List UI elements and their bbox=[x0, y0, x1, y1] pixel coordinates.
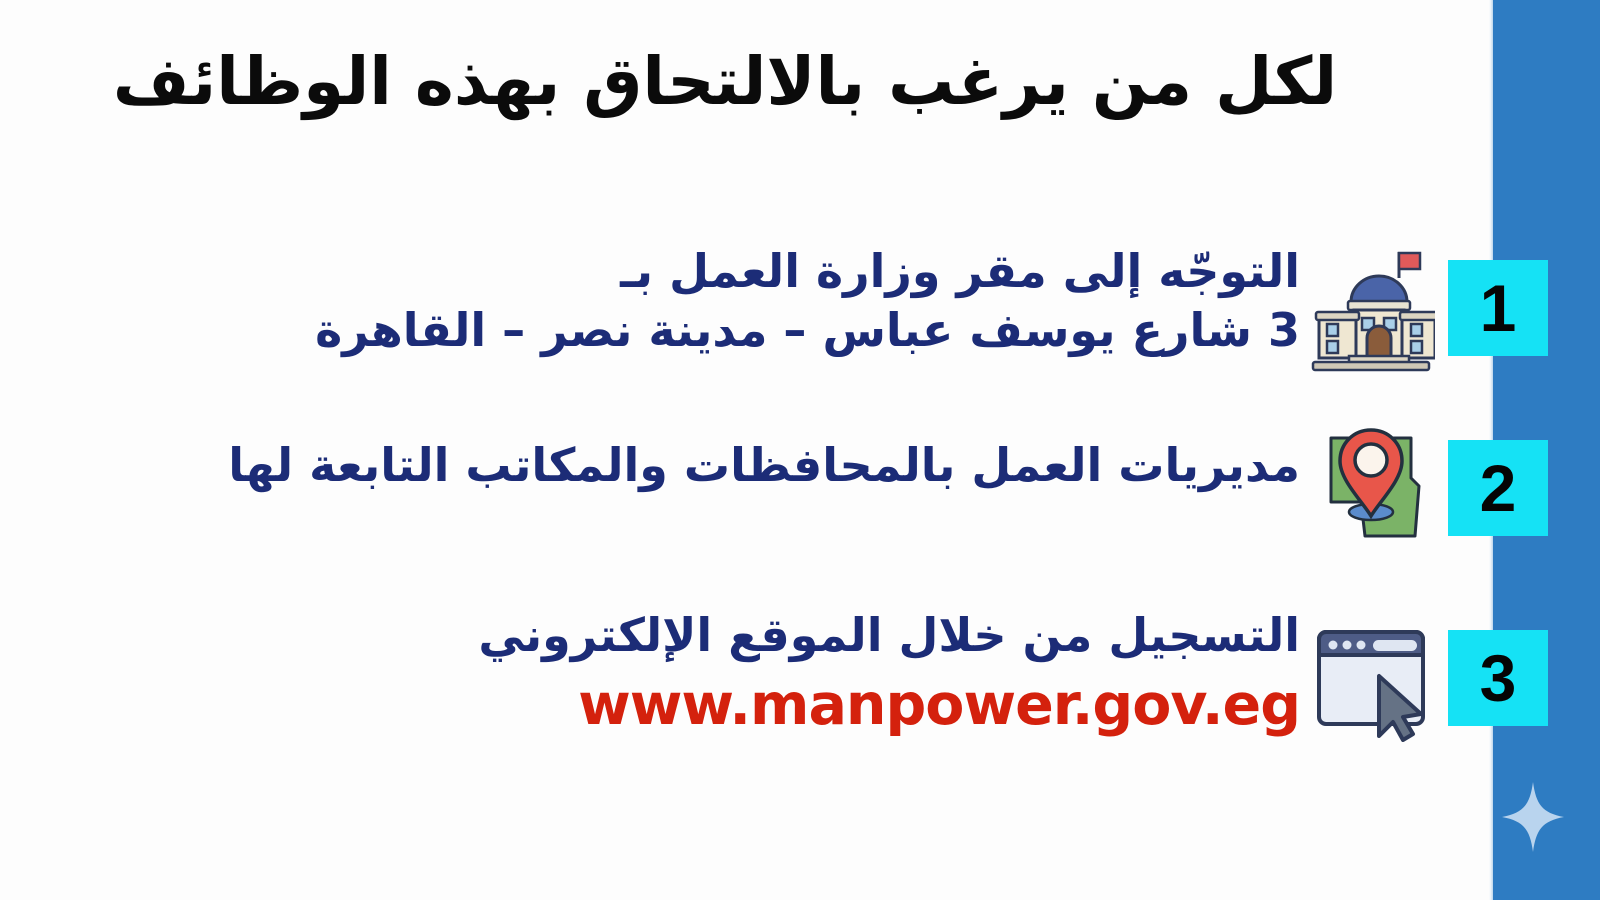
infographic-poster: لكل من يرغب بالالتحاق بهذه الوظائف 1 bbox=[0, 0, 1600, 900]
step-1-text: التوجّه إلى مقر وزارة العمل بـ 3 شارع يو… bbox=[60, 242, 1300, 360]
step-number-badge-2: 2 bbox=[1448, 440, 1548, 536]
step-row-2: 2 مديريات العمل بالمحافظات والمكاتب التا… bbox=[0, 422, 1600, 552]
government-building-icon bbox=[1307, 244, 1435, 372]
website-url[interactable]: www.manpower.gov.eg bbox=[60, 669, 1300, 742]
step-3-text: التسجيل من خلال الموقع الإلكتروني www.ma… bbox=[60, 606, 1300, 742]
step-row-3: 3 التسجيل من خلال الموقع الإلكتروني www.… bbox=[0, 608, 1600, 768]
step-1-line-1: التوجّه إلى مقر وزارة العمل بـ bbox=[60, 242, 1300, 301]
steps-list: 1 bbox=[0, 222, 1600, 900]
step-3-line-1: التسجيل من خلال الموقع الإلكتروني bbox=[60, 606, 1300, 665]
browser-window-cursor-icon bbox=[1307, 614, 1435, 742]
step-2-line-1: مديريات العمل بالمحافظات والمكاتب التابع… bbox=[60, 436, 1300, 495]
step-number-badge-1: 1 bbox=[1448, 260, 1548, 356]
step-1-line-2: 3 شارع يوسف عباس – مدينة نصر – القاهرة bbox=[60, 301, 1300, 360]
step-row-1: 1 bbox=[0, 238, 1600, 388]
step-number-badge-3: 3 bbox=[1448, 630, 1548, 726]
page-title: لكل من يرغب بالالتحاق بهذه الوظائف bbox=[0, 44, 1450, 120]
step-2-text: مديريات العمل بالمحافظات والمكاتب التابع… bbox=[60, 436, 1300, 495]
map-location-pin-icon bbox=[1307, 416, 1435, 544]
